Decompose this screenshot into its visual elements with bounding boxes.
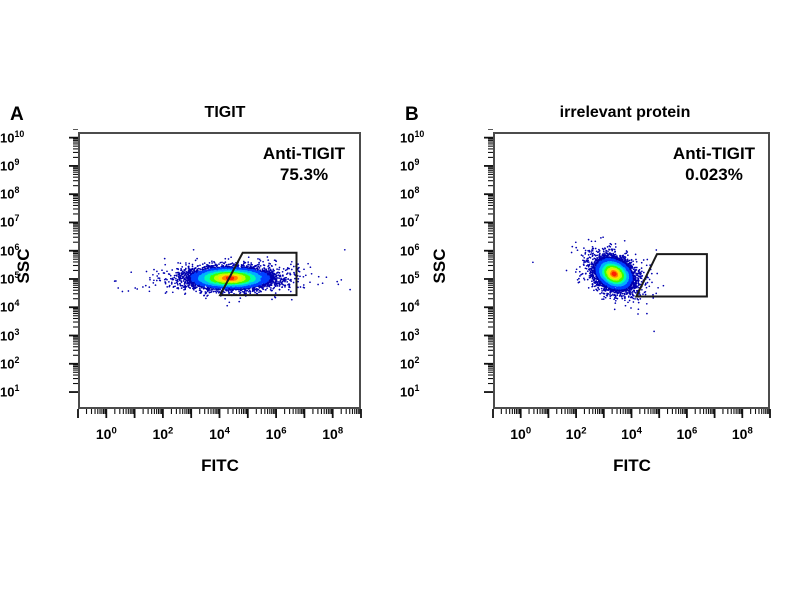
y-tick-label: 104 [400, 301, 480, 314]
y-tick-label: 101 [0, 386, 65, 399]
panel-a-annotation-line2: 75.3% [248, 164, 360, 185]
x-tick-label: 108 [322, 427, 343, 441]
y-tick-label: 109 [0, 159, 65, 172]
y-tick-marks [481, 129, 493, 412]
y-tick-label: 102 [0, 357, 65, 370]
panel-b-title: irrelevant protein [525, 105, 725, 121]
panel-b-annotation-line2: 0.023% [658, 164, 770, 185]
panel-b-annotation-line1: Anti-TIGIT [658, 143, 770, 164]
x-tick-marks [490, 409, 773, 421]
y-tick-label: 104 [0, 301, 65, 314]
panel-a-annotation-line1: Anti-TIGIT [248, 143, 360, 164]
y-tick-label: 1010 [400, 131, 480, 144]
y-tick-label: 101 [400, 386, 480, 399]
x-tick-label: 100 [510, 427, 531, 441]
y-tick-label: 1010 [0, 131, 65, 144]
x-tick-marks [75, 409, 364, 421]
x-tick-label: 104 [209, 427, 230, 441]
panel-a-x-axis-label: FITC [201, 456, 239, 476]
panel-b: B irrelevant protein Anti-TIGIT 0.023% 1… [400, 0, 800, 600]
flow-cytometry-figure: A TIGIT Anti-TIGIT 75.3% 101010910810710… [0, 0, 800, 600]
panel-a-letter: A [10, 105, 24, 124]
panel-b-y-axis-label: SSC [430, 249, 450, 284]
y-tick-label: 108 [0, 188, 65, 201]
x-tick-label: 104 [621, 427, 642, 441]
y-tick-label: 107 [400, 216, 480, 229]
y-tick-label: 103 [0, 329, 65, 342]
panel-b-gate-annotation: Anti-TIGIT 0.023% [658, 143, 770, 186]
y-tick-label: 109 [400, 159, 480, 172]
x-tick-label: 102 [152, 427, 173, 441]
y-tick-label: 107 [0, 216, 65, 229]
panel-a-title: TIGIT [160, 105, 290, 121]
panel-b-letter: B [405, 105, 419, 124]
x-tick-label: 106 [676, 427, 697, 441]
panel-b-x-axis-label: FITC [613, 456, 651, 476]
y-tick-label: 102 [400, 357, 480, 370]
x-tick-label: 106 [266, 427, 287, 441]
x-tick-label: 108 [732, 427, 753, 441]
panel-a: A TIGIT Anti-TIGIT 75.3% 101010910810710… [0, 0, 400, 600]
panel-a-gate-annotation: Anti-TIGIT 75.3% [248, 143, 360, 186]
panel-a-y-axis-label: SSC [14, 249, 34, 284]
x-tick-label: 102 [566, 427, 587, 441]
y-tick-label: 108 [400, 188, 480, 201]
y-tick-label: 103 [400, 329, 480, 342]
x-tick-label: 100 [96, 427, 117, 441]
y-tick-marks [66, 129, 78, 412]
